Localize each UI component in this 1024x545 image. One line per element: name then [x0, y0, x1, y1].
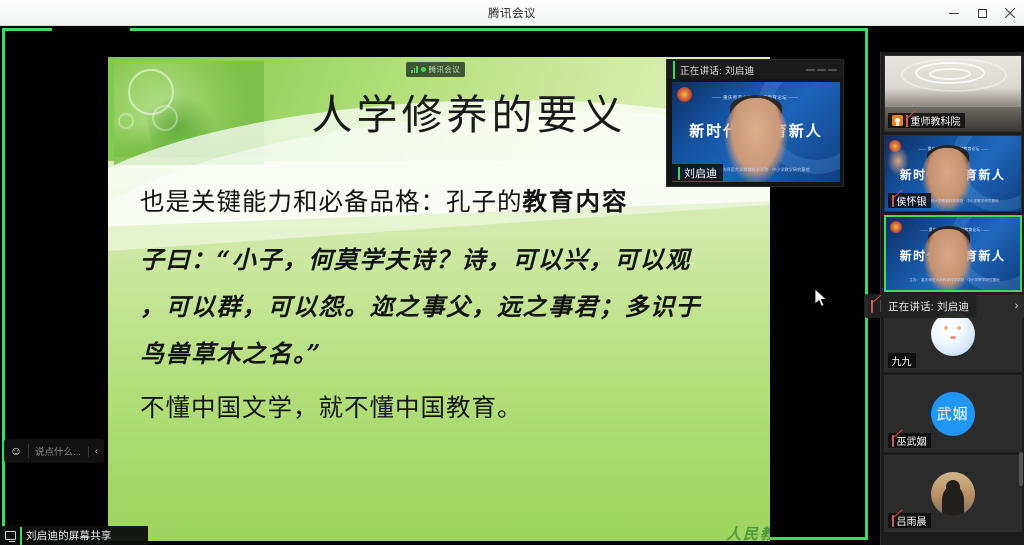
slide-quote-line-1: 子曰：“小子，何莫学夫诗？诗，可以兴，可以观	[140, 236, 752, 283]
avatar	[892, 115, 903, 126]
recording-dot-icon	[421, 67, 426, 72]
mic-muted-icon	[871, 300, 873, 312]
participant-tile[interactable]: —— 重庆师范大学“ ”精粹教育论坛 —— 新时代 育 育新人 主办： 重庆师范…	[884, 135, 1022, 212]
mic-muted-icon	[892, 195, 894, 206]
pip-status-label: 正在讲话: 刘启迪	[680, 63, 754, 77]
participant-name-badge: 重师教科院	[888, 113, 965, 128]
signal-bars-icon	[411, 66, 418, 73]
mic-icon	[673, 61, 675, 79]
participant-name: 重师教科院	[911, 113, 961, 128]
participant-tile[interactable]: 重师教科院	[884, 55, 1022, 132]
active-speaker-pip[interactable]: 正在讲话: 刘启迪 —— 重庆师范大学“ ”精粹教育论坛 —— 新时代 育 育新…	[666, 59, 844, 187]
speaking-banner: 正在讲话: 刘启迪	[864, 294, 977, 318]
publisher-name-cn: 人民教育出版社	[726, 527, 770, 541]
slide-quote-line-2: ，可以群，可以怨。迩之事父，远之事君；多识于	[140, 283, 752, 330]
rail-scrollbar[interactable]	[1019, 452, 1023, 486]
slide-quote-line-3: 鸟兽草木之名。”	[140, 330, 752, 377]
tencent-meeting-window: 腾讯会议	[0, 0, 1024, 545]
participant-tile[interactable]: 武姻 巫武姻	[884, 375, 1022, 452]
mic-muted-icon	[892, 515, 894, 526]
avatar: 武姻	[931, 392, 975, 436]
watermark-label: 腾讯会议	[429, 64, 461, 75]
participant-tile-active[interactable]: —— 重庆师范大学“ ”精粹教育论坛 —— 新时代 育 育新人 主办： 重庆师范…	[884, 215, 1022, 292]
participant-name-badge: 侯怀银	[888, 193, 931, 208]
mic-icon	[678, 167, 680, 179]
participant-name: 吕雨晨	[897, 513, 927, 528]
window-controls	[940, 0, 1024, 26]
slide-lead-line: 也是关键能力和必备品格：孔子的教育内容	[140, 183, 752, 218]
close-icon	[1005, 8, 1015, 18]
monitor-icon	[5, 531, 16, 540]
window-titlebar: 腾讯会议	[0, 0, 1024, 26]
participant-name: 九九	[892, 353, 912, 368]
meeting-watermark-badge: 腾讯会议	[406, 62, 465, 77]
meeting-stage: 人学修养的要义 也是关键能力和必备品格：孔子的教育内容 子曰：“小子，何莫学夫诗…	[0, 26, 1024, 545]
speaking-banner-label: 正在讲话: 刘启迪	[888, 299, 969, 314]
pip-titlebar: 正在讲话: 刘启迪	[667, 60, 843, 79]
window-title: 腾讯会议	[488, 5, 536, 21]
close-button[interactable]	[996, 0, 1024, 26]
participant-name-badge: 九九	[888, 353, 916, 368]
chevron-right-icon[interactable]: ›	[1009, 294, 1024, 318]
maximize-button[interactable]	[968, 0, 996, 26]
chat-collapse-icon[interactable]: ‹	[88, 446, 104, 457]
avatar	[931, 472, 975, 516]
minimize-button[interactable]	[940, 0, 968, 26]
restore-icon	[978, 9, 987, 18]
avatar	[931, 312, 975, 356]
slide-lead-plain: 也是关键能力和必备品格：孔子的	[140, 187, 523, 216]
emoji-icon[interactable]: ☺	[4, 444, 28, 458]
publisher-logo: 人民教育出版社 PEOPLE'S EDUCATION PRESS	[706, 527, 770, 541]
mic-muted-icon	[892, 435, 894, 446]
tile-video-footer: 主办： 重庆师范大学教育科学学院 · 中小学教学研究基地	[894, 278, 1016, 283]
participant-name: 侯怀银	[897, 193, 927, 208]
slide-lead-bold: 教育内容	[523, 187, 629, 216]
chat-input[interactable]: 说点什么...	[28, 444, 88, 458]
mic-icon	[20, 527, 22, 545]
participant-tile[interactable]: 吕雨晨	[884, 455, 1022, 532]
mic-muted-icon	[906, 115, 908, 126]
slide-body: 也是关键能力和必备品格：孔子的教育内容 子曰：“小子，何莫学夫诗？诗，可以兴，可…	[140, 183, 752, 424]
pip-speaker-label: 刘启迪	[684, 165, 717, 181]
share-status-label: 刘启迪的屏幕共享	[26, 528, 112, 543]
chat-input-bar[interactable]: ☺ 说点什么... ‹	[4, 439, 104, 463]
screen-share-status-bar: 刘启迪的屏幕共享	[0, 526, 148, 545]
participant-name-badge: 巫武姻	[888, 433, 931, 448]
participant-name-badge: 吕雨晨	[888, 513, 931, 528]
slide-tail-line: 不懂中国文学，就不懂中国教育。	[140, 389, 752, 424]
pip-speaker-name: 刘启迪	[672, 164, 723, 181]
minimize-icon	[949, 13, 959, 14]
mouse-cursor	[814, 288, 828, 308]
pip-drag-handle[interactable]	[806, 69, 837, 71]
participant-name: 巫武姻	[897, 433, 927, 448]
